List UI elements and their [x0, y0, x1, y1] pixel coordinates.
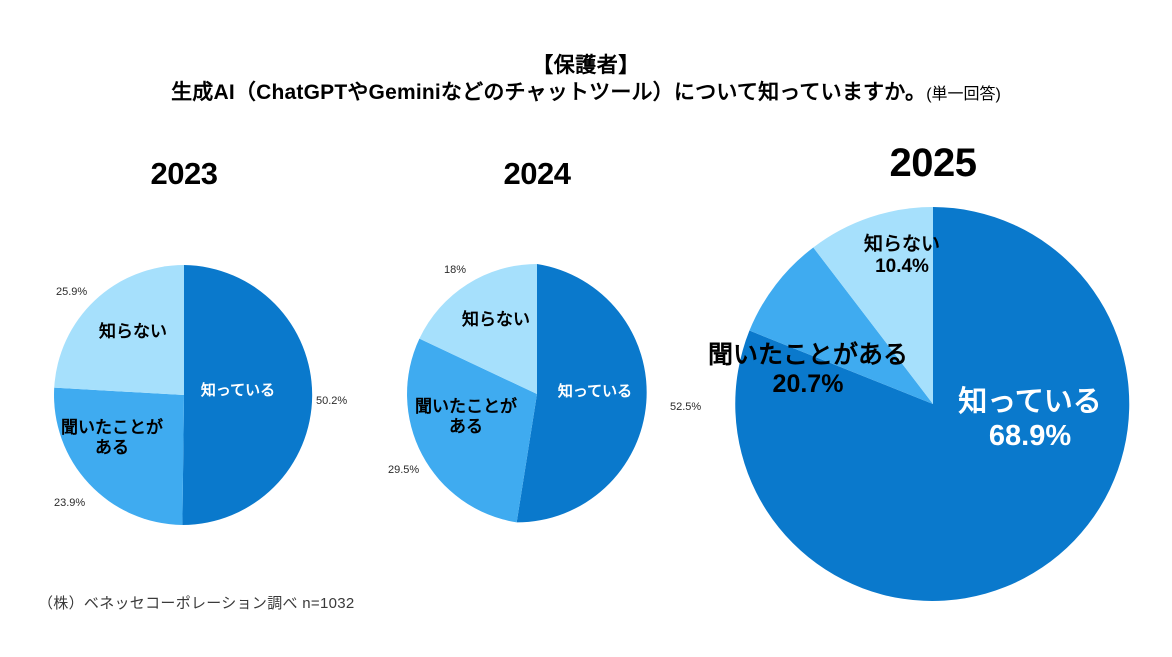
year-heading-2024: 2024: [457, 158, 617, 189]
chart-canvas: 【保護者】 生成AI（ChatGPTやGeminiなどのチャットツール）について…: [0, 0, 1172, 657]
pie-svg-2024: [407, 264, 667, 524]
title-question-suffix: (単一回答): [926, 86, 1001, 103]
pie-slice-2023-heard[interactable]: [54, 388, 184, 525]
pie-pct-2023-know: 50.2%: [316, 396, 347, 407]
title-line-audience: 【保護者】: [0, 52, 1172, 79]
pie-chart-2024: [407, 264, 667, 524]
pie-svg-2025: [736, 207, 1130, 601]
chart-title: 【保護者】 生成AI（ChatGPTやGeminiなどのチャットツール）について…: [0, 52, 1172, 107]
title-question-main: 生成AI（ChatGPTやGeminiなどのチャットツール）について知っています…: [171, 81, 926, 104]
title-line-question: 生成AI（ChatGPTやGeminiなどのチャットツール）について知っています…: [0, 79, 1172, 106]
pie-slice-2023-unknown[interactable]: [54, 265, 184, 395]
pie-pct-2024-know: 52.5%: [670, 402, 701, 413]
source-footnote: （株）ベネッセコーポレーション調べ n=1032: [38, 592, 355, 613]
year-heading-2025: 2025: [853, 143, 1013, 183]
pie-svg-2023: [54, 265, 314, 525]
pie-chart-2023: [54, 265, 314, 525]
pie-chart-2025: [736, 207, 1130, 601]
year-heading-2023: 2023: [104, 158, 264, 189]
pie-slice-2023-know[interactable]: [182, 265, 312, 525]
